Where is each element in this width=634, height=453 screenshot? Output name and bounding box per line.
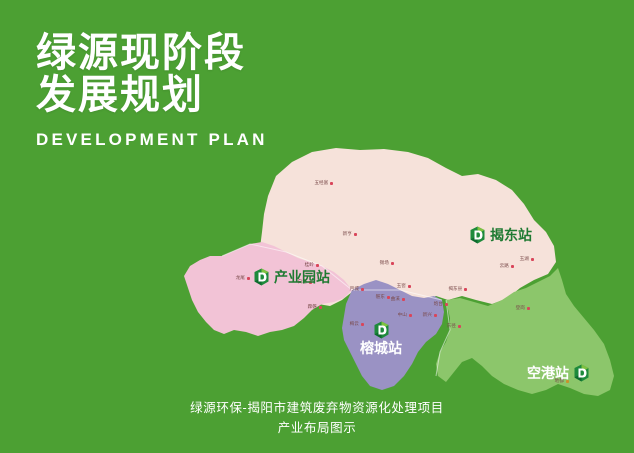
town-label: 龙尾 [236, 276, 245, 281]
town-dot-icon [408, 285, 411, 288]
title-block: 绿源现阶段 发展规划 DEVELOPMENT PLAN [36, 32, 268, 150]
town-label: 云路 [500, 264, 509, 269]
town-dot-icon [330, 182, 333, 185]
town-label: 中山 [398, 313, 407, 318]
station-label-airport: 空港站 [527, 366, 569, 380]
lvyuan-leaf-logo-icon [469, 226, 486, 244]
town-label: 新亨 [343, 232, 352, 237]
caption-block: 绿源环保-揭阳市建筑废弃物资源化处理项目 产业布局图示 [0, 398, 634, 438]
station-label-rongcheng: 榕城站 [360, 341, 402, 355]
town-dot-icon [464, 288, 467, 291]
station-marker-jiedong[interactable]: 揭东站 [469, 226, 532, 244]
town-dot-icon [319, 306, 322, 309]
town-label: 玉窖 [397, 284, 406, 289]
town-marker: 新亨 [345, 233, 357, 236]
page-title-line-2: 发展规划 [36, 74, 268, 116]
caption-line-2: 产业布局图示 [0, 418, 634, 438]
town-dot-icon [445, 303, 448, 306]
town-dot-icon [434, 314, 437, 317]
town-dot-icon [409, 314, 412, 317]
station-marker-industrial-park[interactable]: 产业园站 [253, 268, 330, 286]
town-marker: 中山 [400, 314, 412, 317]
station-marker-airport[interactable]: 空港站 [527, 364, 590, 382]
town-dot-icon [511, 265, 514, 268]
town-marker: 曲溪 [393, 298, 405, 301]
town-dot-icon [247, 277, 250, 280]
lvyuan-leaf-logo-icon [373, 321, 390, 339]
town-marker: 玉窖 [399, 285, 411, 288]
town-marker: 东径 [449, 325, 461, 328]
town-label: 炮台 [434, 302, 443, 307]
station-label-industrial-park: 产业园站 [274, 270, 330, 284]
caption-line-1: 绿源环保-揭阳市建筑废弃物资源化处理项目 [0, 398, 634, 418]
station-label-jiedong: 揭东站 [490, 228, 532, 242]
town-marker: 登岗 [518, 307, 530, 310]
town-label: 梅云 [350, 322, 359, 327]
town-marker: 炮台 [436, 303, 448, 306]
lvyuan-leaf-logo-icon [253, 268, 270, 286]
town-label: 磐东 [376, 295, 385, 300]
town-dot-icon [527, 307, 530, 310]
page-title-line-1: 绿源现阶段 [36, 32, 268, 74]
town-marker: 锡场 [382, 262, 394, 265]
town-label: 东径 [447, 324, 456, 329]
town-label: 曲溪 [391, 297, 400, 302]
town-label: 登岗 [516, 306, 525, 311]
town-dot-icon [361, 288, 364, 291]
town-dot-icon [391, 262, 394, 265]
town-dot-icon [458, 325, 461, 328]
town-dot-icon [387, 296, 390, 299]
town-marker: 五经富 [318, 182, 333, 185]
town-label: 月城 [350, 287, 359, 292]
town-label: 玉湖 [520, 257, 529, 262]
town-dot-icon [402, 298, 405, 301]
town-dot-icon [316, 264, 319, 267]
town-label: 锡场 [380, 261, 389, 266]
town-marker: 云路 [502, 265, 514, 268]
lvyuan-leaf-logo-icon [573, 364, 590, 382]
town-label: 揭东县 [448, 287, 462, 292]
town-marker: 揭东县 [452, 288, 467, 291]
town-label: 霖磐 [308, 305, 317, 310]
town-dot-icon [354, 233, 357, 236]
page-subtitle: DEVELOPMENT PLAN [36, 130, 268, 150]
town-marker: 龙尾 [238, 277, 250, 280]
town-label: 新兴 [423, 313, 432, 318]
poster-canvas: 绿源现阶段 发展规划 DEVELOPMENT PLAN [0, 0, 634, 453]
town-marker: 月城 [352, 288, 364, 291]
town-marker: 磐东 [378, 296, 390, 299]
town-marker: 玉湖 [522, 258, 534, 261]
town-marker: 霖磐 [310, 306, 322, 309]
town-marker: 新兴 [425, 314, 437, 317]
town-label: 五经富 [314, 181, 328, 186]
town-dot-icon [531, 258, 534, 261]
town-marker: 桂岭 [307, 264, 319, 267]
station-marker-rongcheng[interactable]: 榕城站 [360, 321, 402, 355]
